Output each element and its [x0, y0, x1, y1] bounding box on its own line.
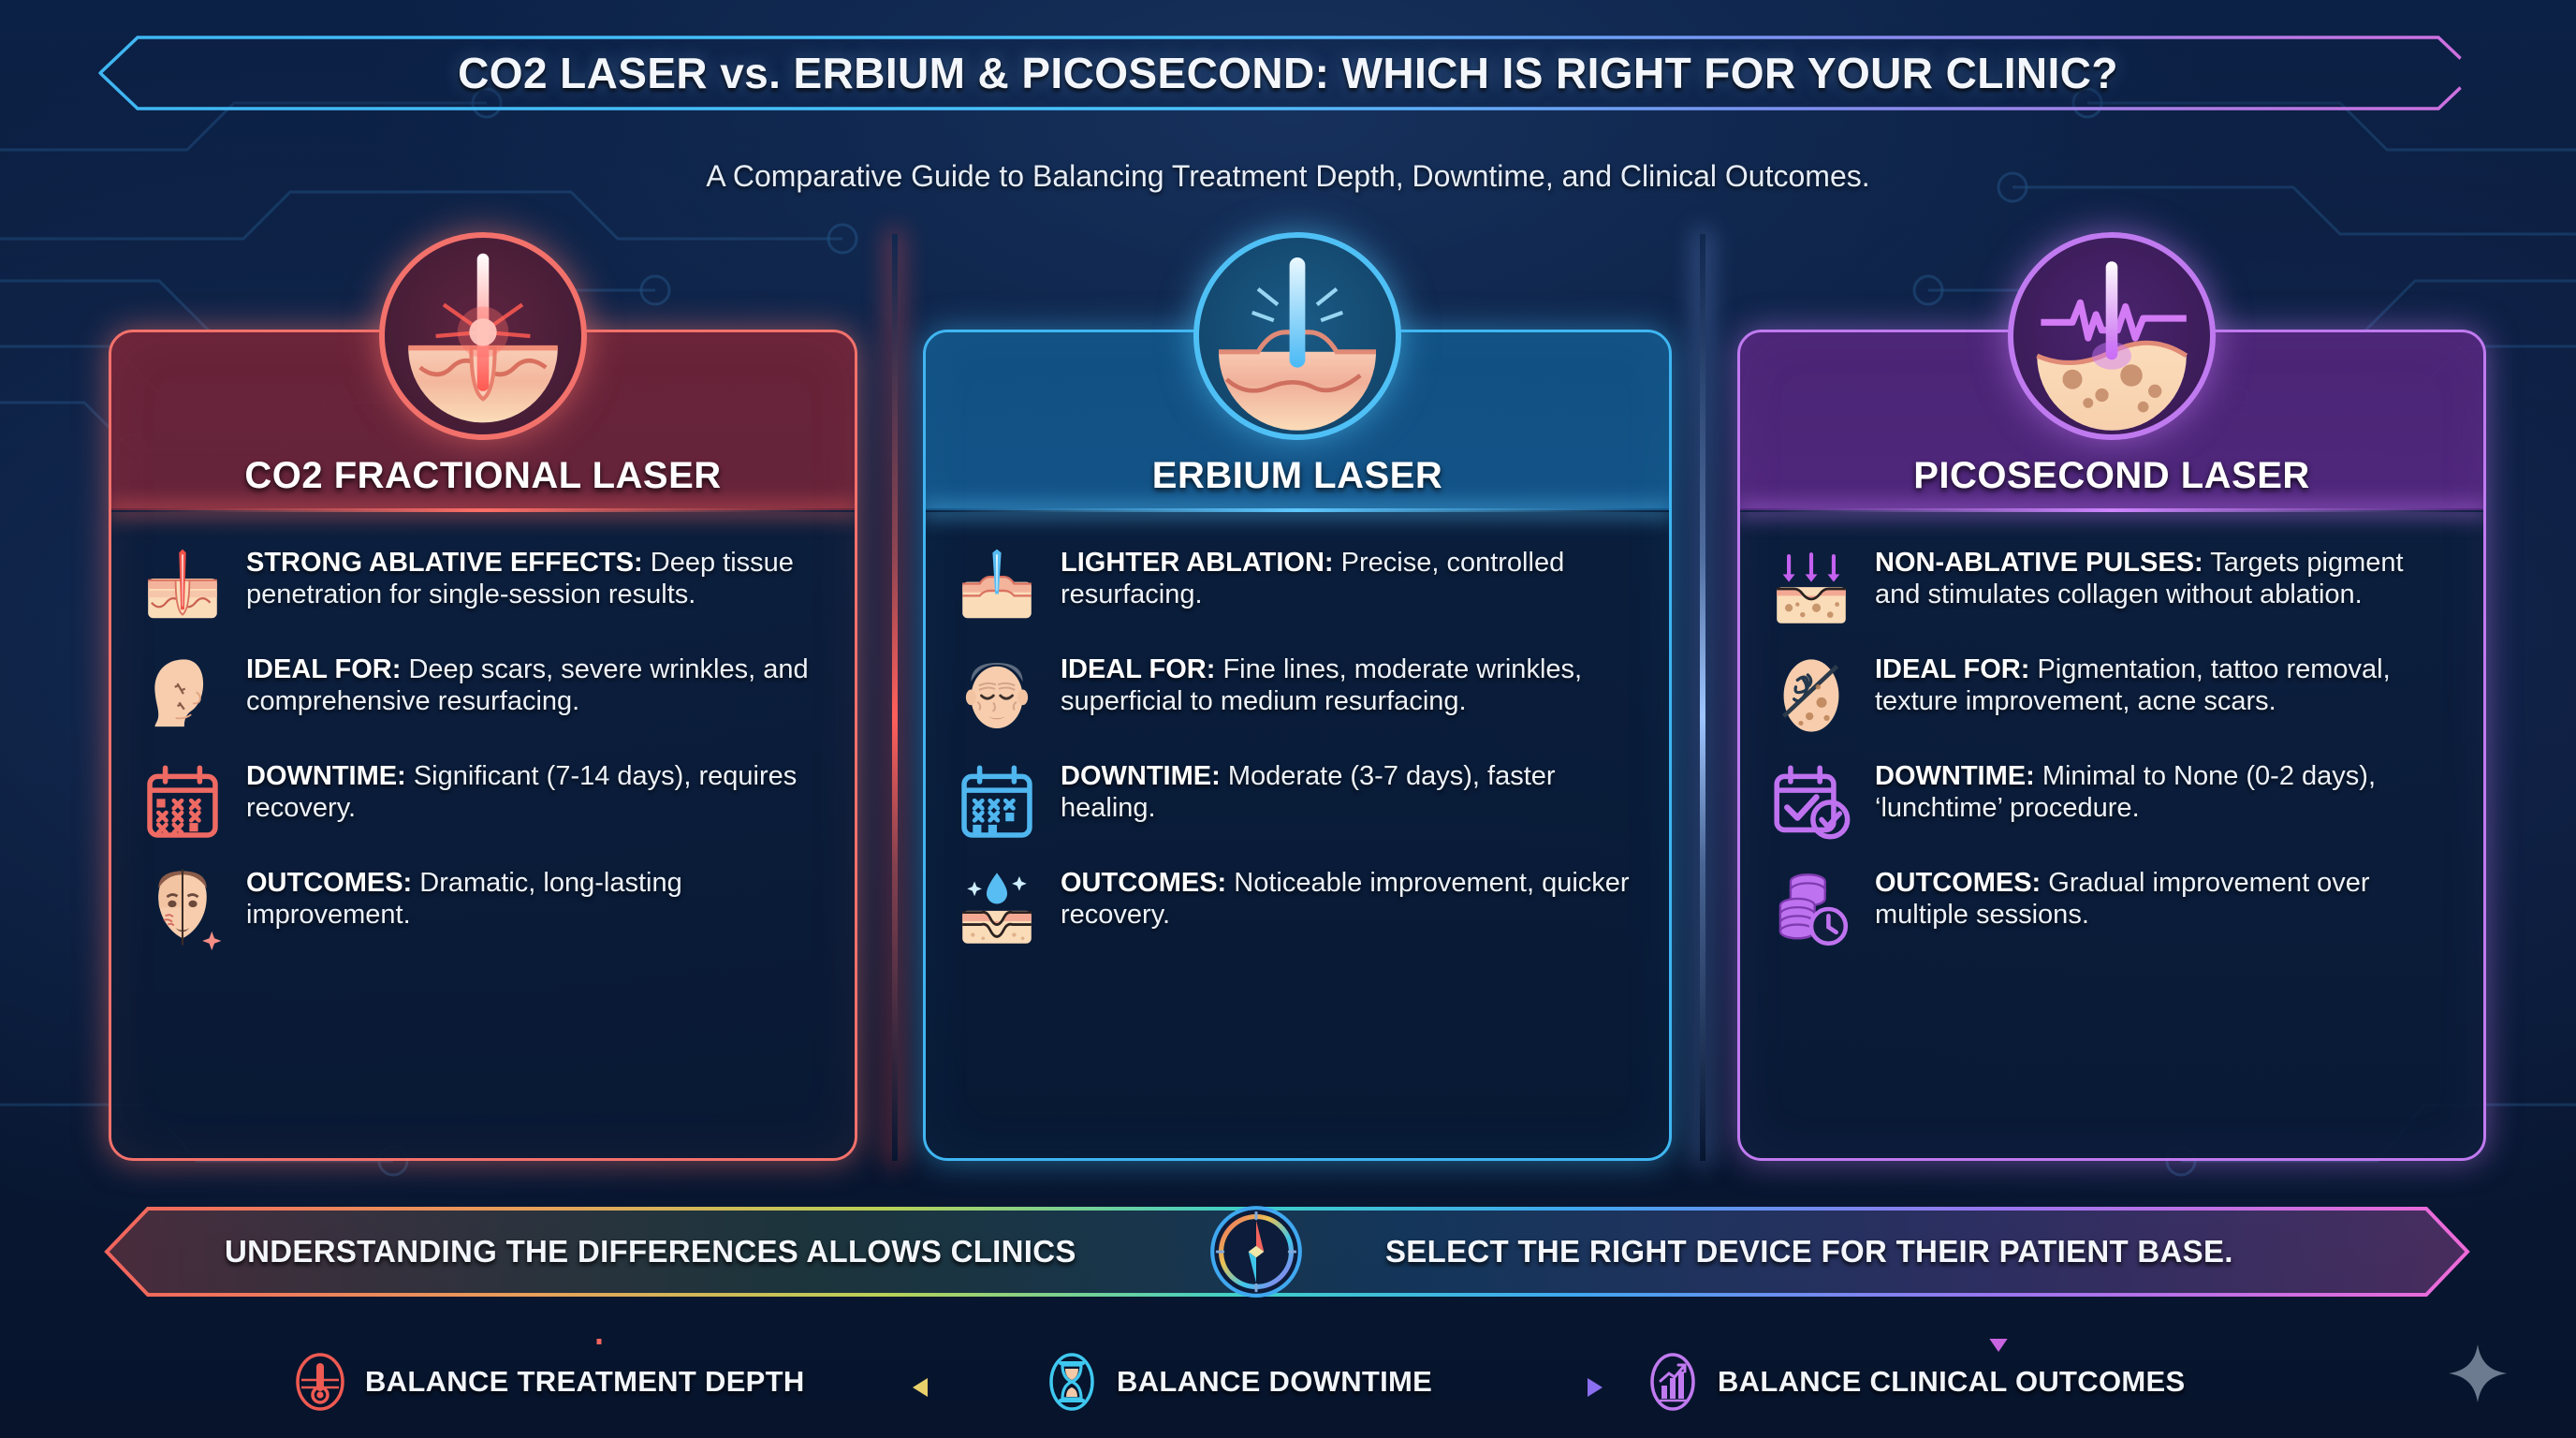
skin-hydration-droplet-icon: [952, 864, 1042, 954]
feature-text: LIGHTER ABLATION: Precise, controlled re…: [1061, 544, 1641, 611]
footer-item-clinical-outcomes: BALANCE CLINICAL OUTCOMES: [1643, 1352, 2185, 1412]
face-profile-scars-icon: [138, 651, 227, 741]
feature-item: IDEAL FOR: Deep scars, severe wrinkles, …: [138, 651, 827, 741]
feature-label: IDEAL FOR:: [1061, 654, 1215, 684]
feature-item: LIGHTER ABLATION: Precise, controlled re…: [952, 544, 1641, 634]
footer-balance-row: BALANCE TREATMENT DEPTH BALANCE DOWNTIME: [0, 1339, 2576, 1432]
feature-item: IDEAL FOR: Fine lines, moderate wrinkles…: [952, 651, 1641, 741]
tattoo-pigment-removal-icon: [1766, 651, 1856, 741]
thermometer-depth-icon: [290, 1352, 350, 1412]
feature-item: IDEAL FOR: Pigmentation, tattoo removal,…: [1766, 651, 2455, 741]
footer-label: BALANCE CLINICAL OUTCOMES: [1718, 1365, 2185, 1399]
feature-label: STRONG ABLATIVE EFFECTS:: [246, 548, 643, 578]
picosecond-badge-icon: [2008, 232, 2216, 440]
hourglass-icon: [1042, 1352, 1102, 1412]
feature-item: DOWNTIME: Moderate (3-7 days), faster he…: [952, 757, 1641, 847]
coins-clock-icon: [1766, 864, 1856, 954]
banner-right-text: SELECT THE RIGHT DEVICE FOR THEIR PATIEN…: [1385, 1206, 2233, 1298]
feature-item: DOWNTIME: Significant (7-14 days), requi…: [138, 757, 827, 847]
co2-badge-icon: [379, 232, 587, 440]
footer-label: BALANCE DOWNTIME: [1117, 1365, 1432, 1399]
footer-label: BALANCE TREATMENT DEPTH: [365, 1365, 805, 1399]
feature-text: IDEAL FOR: Pigmentation, tattoo removal,…: [1875, 651, 2455, 718]
skin-light-ablation-icon: [952, 544, 1042, 634]
picosecond-title: PICOSECOND LASER: [1913, 455, 2310, 497]
feature-label: DOWNTIME:: [1061, 761, 1221, 791]
feature-text: IDEAL FOR: Deep scars, severe wrinkles, …: [246, 651, 827, 718]
feature-label: IDEAL FOR:: [246, 654, 401, 684]
infographic-canvas: CO2 LASER vs. ERBIUM & PICOSECOND: WHICH…: [0, 0, 2576, 1438]
feature-item: OUTCOMES: Dramatic, long-lasting improve…: [138, 864, 827, 954]
feature-text: DOWNTIME: Significant (7-14 days), requi…: [246, 757, 827, 825]
picosecond-header-glow: [1740, 508, 2483, 512]
feature-text: OUTCOMES: Gradual improvement over multi…: [1875, 864, 2455, 932]
divider-laser-line-1: [892, 234, 898, 1161]
column-picosecond[interactable]: PICOSECOND LASER: [1737, 330, 2486, 1161]
feature-item: STRONG ABLATIVE EFFECTS: Deep tissue pen…: [138, 544, 827, 634]
erbium-header-glow: [926, 508, 1669, 512]
feature-label: DOWNTIME:: [246, 761, 406, 791]
feature-text: NON-ABLATIVE PULSES: Targets pigment and…: [1875, 544, 2455, 611]
banner-left-text: UNDERSTANDING THE DIFFERENCES ALLOWS CLI…: [225, 1206, 1076, 1298]
feature-label: LIGHTER ABLATION:: [1061, 548, 1334, 578]
footer-item-treatment-depth: BALANCE TREATMENT DEPTH: [290, 1352, 805, 1412]
sparkle-icon: [2447, 1343, 2509, 1404]
picosecond-feature-list: NON-ABLATIVE PULSES: Targets pigment and…: [1740, 527, 2483, 1145]
calendar-icon: [952, 757, 1042, 847]
feature-label: NON-ABLATIVE PULSES:: [1875, 548, 2203, 578]
feature-text: IDEAL FOR: Fine lines, moderate wrinkles…: [1061, 651, 1641, 718]
divider-laser-line-2: [1700, 234, 1705, 1161]
calendar-icon: [138, 757, 227, 847]
erbium-feature-list: LIGHTER ABLATION: Precise, controlled re…: [926, 527, 1669, 1145]
feature-label: OUTCOMES:: [1061, 868, 1226, 898]
feature-text: STRONG ABLATIVE EFFECTS: Deep tissue pen…: [246, 544, 827, 611]
erbium-badge-icon: [1193, 232, 1401, 440]
co2-title: CO2 FRACTIONAL LASER: [244, 455, 721, 497]
feature-label: DOWNTIME:: [1875, 761, 2035, 791]
erbium-title: ERBIUM LASER: [1152, 455, 1442, 497]
feature-label: IDEAL FOR:: [1875, 654, 2029, 684]
feature-text: OUTCOMES: Dramatic, long-lasting improve…: [246, 864, 827, 932]
column-co2[interactable]: CO2 FRACTIONAL LASER: [109, 330, 857, 1161]
feature-item: OUTCOMES: Noticeable improvement, quicke…: [952, 864, 1641, 954]
feature-text: DOWNTIME: Moderate (3-7 days), faster he…: [1061, 757, 1641, 825]
bar-chart-growth-icon: [1643, 1352, 1703, 1412]
skin-pigment-arrows-icon: [1766, 544, 1856, 634]
co2-header-glow: [111, 508, 855, 512]
skin-deep-ablation-icon: [138, 544, 227, 634]
column-erbium[interactable]: ERBIUM LASER: [923, 330, 1672, 1161]
face-fine-lines-icon: [952, 651, 1042, 741]
feature-text: DOWNTIME: Minimal to None (0-2 days), ‘l…: [1875, 757, 2455, 825]
feature-label: OUTCOMES:: [246, 868, 412, 898]
calendar-check-icon: [1766, 757, 1856, 847]
compass-icon: [1207, 1203, 1305, 1300]
comparison-columns: CO2 FRACTIONAL LASER: [0, 330, 2576, 1153]
feature-item: OUTCOMES: Gradual improvement over multi…: [1766, 864, 2455, 954]
page-title: CO2 LASER vs. ERBIUM & PICOSECOND: WHICH…: [98, 36, 2478, 110]
feature-label: OUTCOMES:: [1875, 868, 2041, 898]
feature-item: DOWNTIME: Minimal to None (0-2 days), ‘l…: [1766, 757, 2455, 847]
feature-text: OUTCOMES: Noticeable improvement, quicke…: [1061, 864, 1641, 932]
face-before-after-icon: [138, 864, 227, 954]
co2-feature-list: STRONG ABLATIVE EFFECTS: Deep tissue pen…: [111, 527, 855, 1145]
feature-item: NON-ABLATIVE PULSES: Targets pigment and…: [1766, 544, 2455, 634]
title-banner: CO2 LASER vs. ERBIUM & PICOSECOND: WHICH…: [98, 36, 2478, 110]
page-subtitle: A Comparative Guide to Balancing Treatme…: [0, 159, 2576, 194]
footer-item-downtime: BALANCE DOWNTIME: [1042, 1352, 1432, 1412]
